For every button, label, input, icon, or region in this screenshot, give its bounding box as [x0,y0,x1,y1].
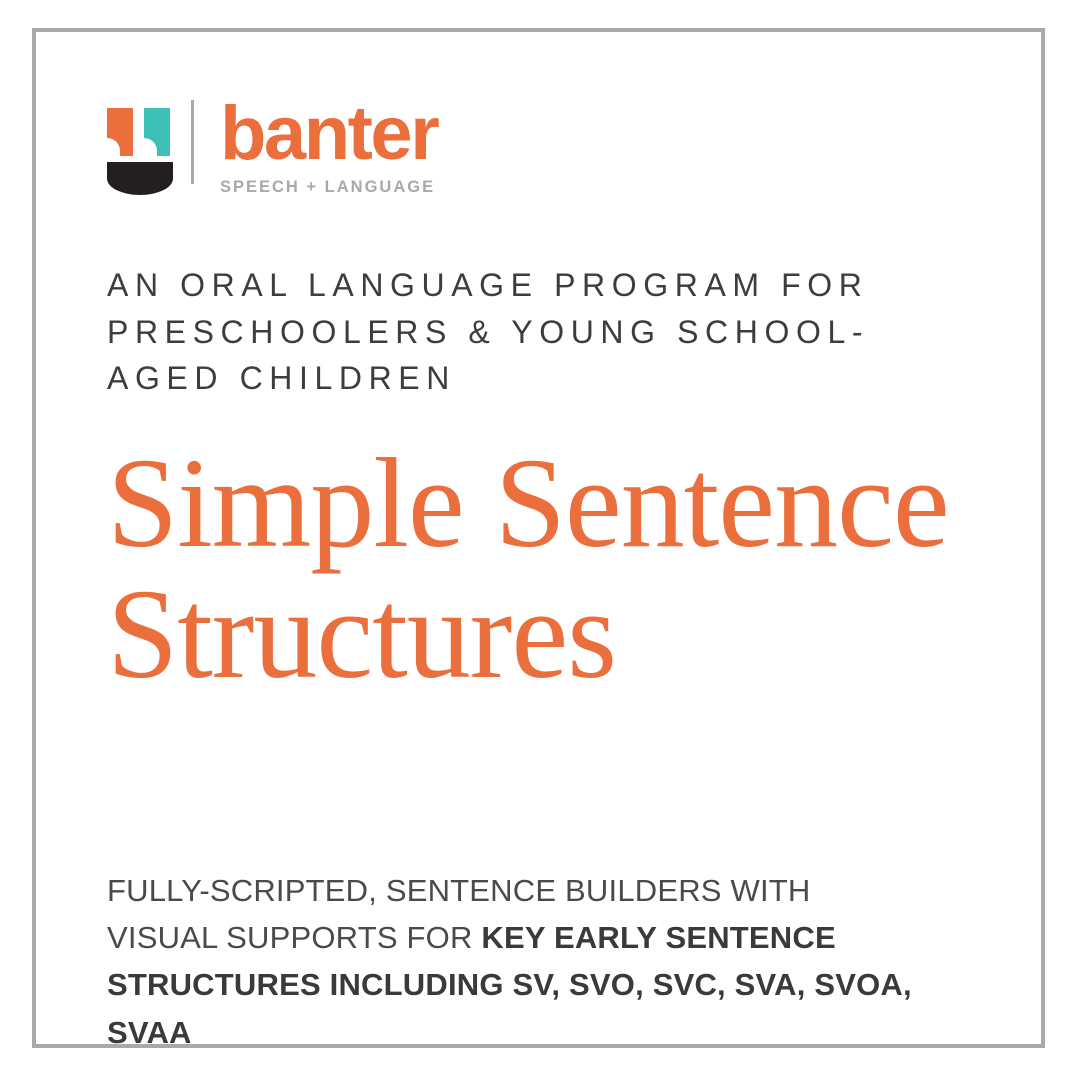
banter-logo: banter SPEECH + LANGUAGE [107,96,937,200]
program-kicker: AN ORAL LANGUAGE PROGRAM FOR PRESCHOOLER… [107,262,937,402]
logo-tagline: SPEECH + LANGUAGE [220,178,437,197]
description-text: FULLY-SCRIPTED, SENTENCE BUILDERS WITH V… [107,867,917,1055]
quote-mark-teal-icon [144,108,170,156]
page-title-line-2: Structures [107,569,967,700]
poster-canvas: banter SPEECH + LANGUAGE AN ORAL LANGUAG… [0,0,1080,1080]
logo-divider [191,100,194,184]
smile-semicircle-icon [107,162,173,195]
page-title-line-1: Simple Sentence [107,438,967,569]
logo-wordmark: banter [220,98,437,170]
quote-smile-logo-mark [107,96,175,196]
page-title: Simple Sentence Structures [107,438,967,699]
quote-mark-orange-icon [107,108,133,156]
logo-text-block: banter SPEECH + LANGUAGE [220,96,437,197]
poster-content: banter SPEECH + LANGUAGE AN ORAL LANGUAG… [107,96,937,1056]
